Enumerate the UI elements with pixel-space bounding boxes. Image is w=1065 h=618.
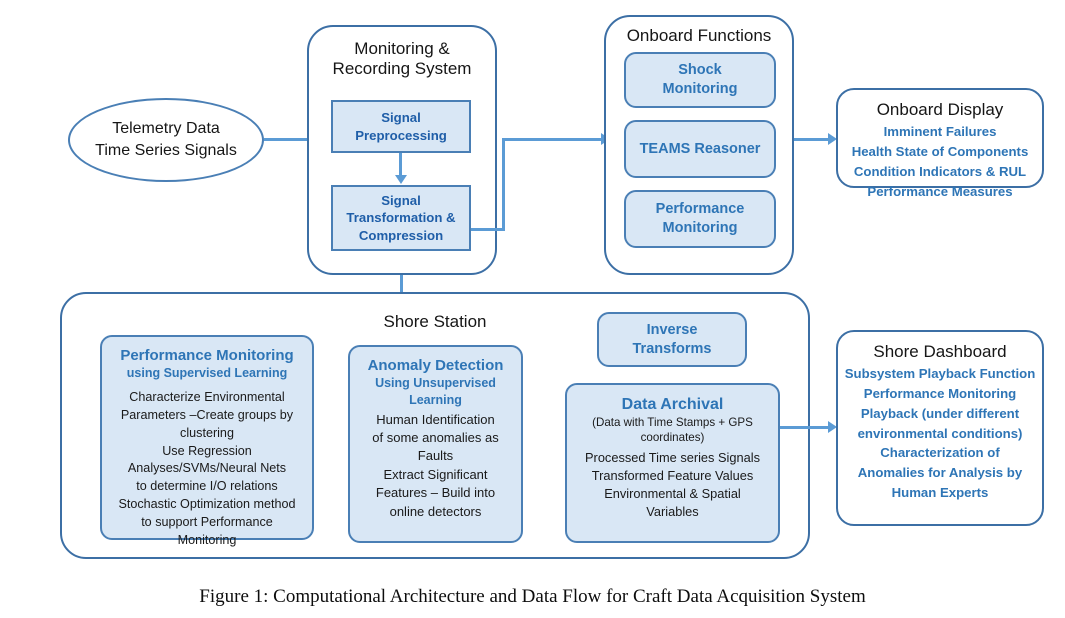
monitoring-title-line-1: Monitoring &: [309, 39, 495, 59]
da-body-line-4: Variables: [585, 503, 760, 521]
performance-monitoring-onboard-box: Performance Monitoring: [624, 190, 776, 248]
shore-dashboard-line-5: Characterization of: [845, 443, 1036, 463]
inverse-transforms-line-1: Inverse: [647, 321, 698, 340]
shock-monitoring-line-1: Shock: [678, 61, 722, 80]
connector-archival-to-dashboard: [780, 426, 832, 429]
connector-preprocessing-to-transformation: [399, 153, 402, 176]
spm-body-line-3: clustering: [118, 425, 295, 443]
spm-body-line-8: to support Performance: [118, 514, 295, 532]
shore-dashboard-panel: Shore Dashboard Subsystem Playback Funct…: [836, 330, 1044, 526]
spm-body-line-5: Analyses/SVMs/Neural Nets: [118, 460, 295, 478]
onboard-display-line-4: Performance Measures: [852, 182, 1029, 202]
shore-performance-monitoring-body: Characterize Environmental Parameters –C…: [118, 389, 295, 550]
monitoring-system-title: Monitoring & Recording System: [309, 39, 495, 80]
onboard-display-panel: Onboard Display Imminent Failures Health…: [836, 88, 1044, 188]
data-archival-box: Data Archival (Data with Time Stamps + G…: [565, 383, 780, 543]
anomaly-detection-sub-line-2: Learning: [409, 393, 462, 409]
onboard-display-line-1: Imminent Failures: [852, 122, 1029, 142]
shock-monitoring-box: Shock Monitoring: [624, 52, 776, 108]
da-body-line-3: Environmental & Spatial: [585, 485, 760, 503]
onboard-display-line-2: Health State of Components: [852, 142, 1029, 162]
performance-monitoring-onboard-line-2: Monitoring: [663, 219, 738, 238]
shore-dashboard-line-6: Anomalies for Analysis by: [845, 463, 1036, 483]
data-archival-head: Data Archival: [622, 395, 724, 415]
signal-preprocessing-box: Signal Preprocessing: [331, 100, 471, 153]
signal-preprocessing-line-2: Preprocessing: [355, 127, 447, 144]
signal-transformation-line-2: Transformation &: [346, 209, 455, 226]
shore-performance-monitoring-sub: using Supervised Learning: [127, 366, 287, 382]
spm-body-line-9: Monitoring: [118, 532, 295, 550]
signal-transformation-line-3: Compression: [359, 227, 443, 244]
shore-dashboard-line-4: environmental conditions): [845, 424, 1036, 444]
telemetry-source-label: Telemetry Data Time Series Signals: [95, 118, 237, 161]
shore-dashboard-line-3: Playback (under different: [845, 404, 1036, 424]
shore-dashboard-line-2: Performance Monitoring: [845, 384, 1036, 404]
ad-body-line-1: Human Identification: [372, 411, 498, 429]
onboard-functions-title: Onboard Functions: [606, 26, 792, 46]
spm-body-line-6: to determine I/O relations: [118, 478, 295, 496]
figure-canvas: Telemetry Data Time Series Signals Monit…: [0, 0, 1065, 618]
anomaly-detection-head: Anomaly Detection: [368, 357, 504, 375]
shore-dashboard-title: Shore Dashboard: [873, 341, 1006, 362]
inverse-transforms-line-2: Transforms: [633, 340, 712, 359]
ad-body-line-2: of some anomalies as: [372, 429, 498, 447]
connector-monitoring-to-onboard: [502, 138, 606, 141]
ad-body-line-3: Faults: [372, 447, 498, 465]
spm-body-line-4: Use Regression: [118, 443, 295, 461]
onboard-display-line-3: Condition Indicators & RUL: [852, 162, 1029, 182]
teams-reasoner-box: TEAMS Reasoner: [624, 120, 776, 178]
monitoring-title-line-2: Recording System: [309, 59, 495, 79]
signal-transformation-line-1: Signal: [381, 192, 421, 209]
anomaly-detection-sub-line-1: Using Unsupervised: [375, 376, 496, 392]
figure-caption: Figure 1: Computational Architecture and…: [0, 586, 1065, 608]
telemetry-line-2: Time Series Signals: [95, 140, 237, 162]
ad-body-line-6: online detectors: [372, 503, 498, 521]
connector-transformation-right: [471, 228, 505, 231]
signal-transformation-box: Signal Transformation & Compression: [331, 185, 471, 251]
telemetry-line-1: Telemetry Data: [95, 118, 237, 140]
ad-body-line-4: Extract Significant: [372, 466, 498, 484]
shore-performance-monitoring-box: Performance Monitoring using Supervised …: [100, 335, 314, 540]
data-archival-sub-line-1: (Data with Time Stamps + GPS: [592, 415, 753, 431]
spm-body-line-7: Stochastic Optimization method: [118, 496, 295, 514]
spm-body-line-1: Characterize Environmental: [118, 389, 295, 407]
teams-reasoner-label: TEAMS Reasoner: [640, 140, 761, 159]
signal-preprocessing-line-1: Signal: [381, 109, 421, 126]
data-archival-body: Processed Time series Signals Transforme…: [585, 449, 760, 522]
data-archival-sub-line-2: coordinates): [641, 430, 705, 446]
da-body-line-1: Processed Time series Signals: [585, 449, 760, 467]
onboard-display-lines: Imminent Failures Health State of Compon…: [852, 122, 1029, 201]
connector-transformation-riser: [502, 138, 505, 231]
arrowhead-into-transformation: [395, 175, 407, 184]
shock-monitoring-line-2: Monitoring: [663, 80, 738, 99]
shore-anomaly-detection-box: Anomaly Detection Using Unsupervised Lea…: [348, 345, 523, 543]
connector-onboard-to-display: [794, 138, 832, 141]
telemetry-data-source: Telemetry Data Time Series Signals: [68, 98, 264, 182]
ad-body-line-5: Features – Build into: [372, 484, 498, 502]
shore-performance-monitoring-head: Performance Monitoring: [120, 347, 293, 365]
anomaly-detection-body: Human Identification of some anomalies a…: [372, 411, 498, 522]
spm-body-line-2: Parameters –Create groups by: [118, 407, 295, 425]
onboard-display-title: Onboard Display: [877, 99, 1004, 120]
inverse-transforms-box: Inverse Transforms: [597, 312, 747, 367]
shore-dashboard-line-1: Subsystem Playback Function: [845, 364, 1036, 384]
performance-monitoring-onboard-line-1: Performance: [656, 200, 745, 219]
shore-dashboard-line-7: Human Experts: [845, 483, 1036, 503]
da-body-line-2: Transformed Feature Values: [585, 467, 760, 485]
shore-dashboard-lines: Subsystem Playback Function Performance …: [845, 364, 1036, 503]
